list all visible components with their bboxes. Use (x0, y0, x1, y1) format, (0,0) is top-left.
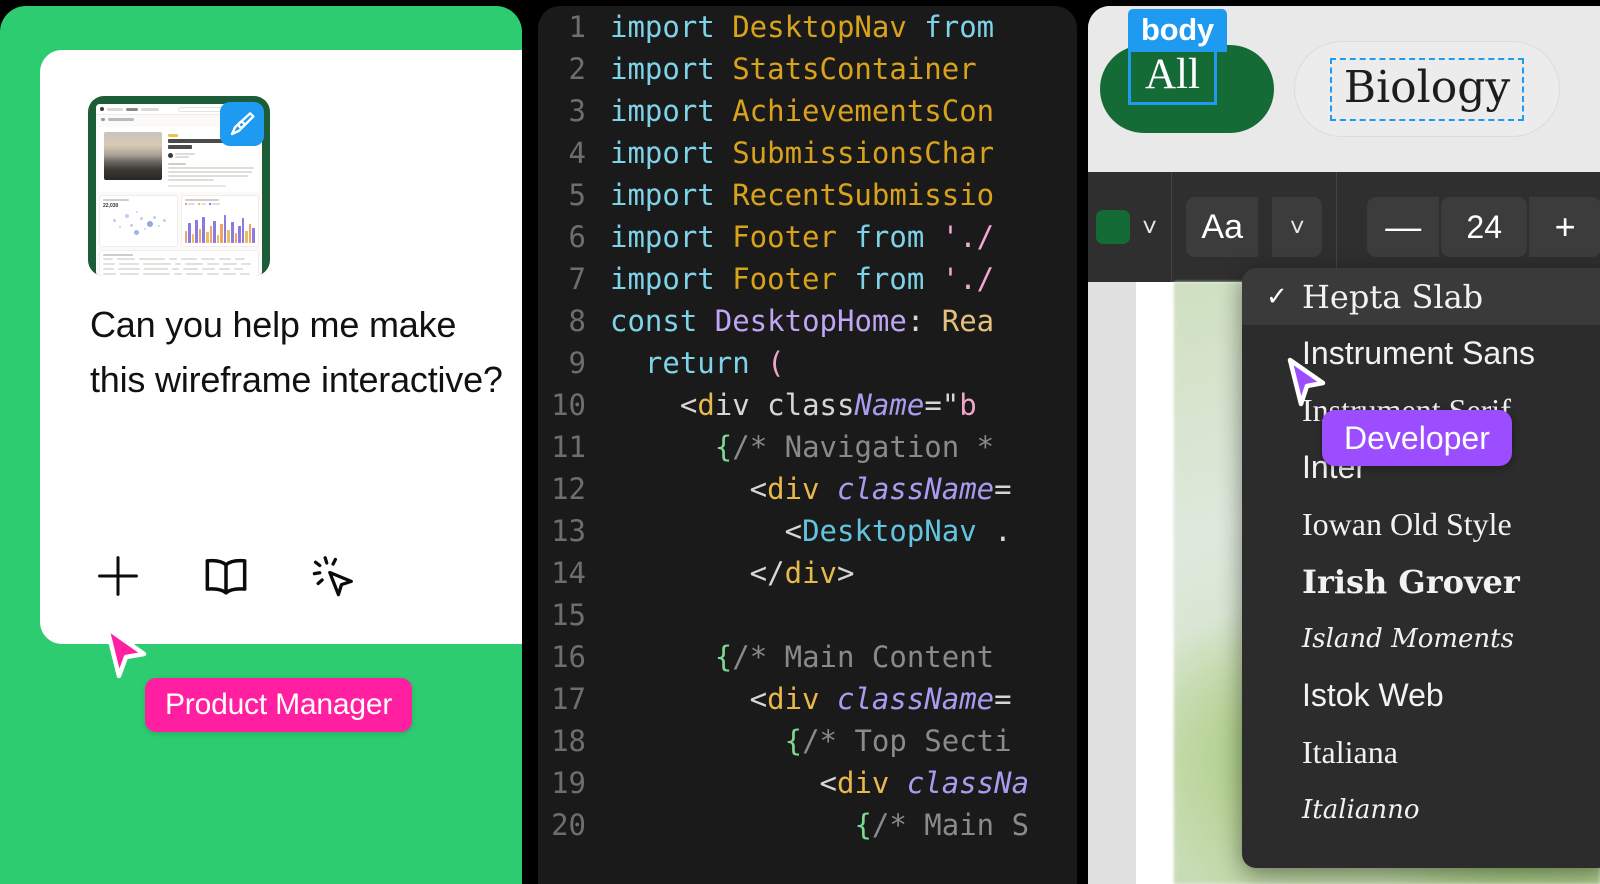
font-menu-item[interactable]: Italianno (1242, 781, 1600, 838)
thumb-card-breakdown (181, 195, 260, 247)
code-text: import RecentSubmissio (610, 178, 994, 212)
code-text: </div> (610, 556, 854, 590)
code-line[interactable]: 7import Footer from './ (538, 258, 1077, 300)
font-menu-item-label: Italiana (1302, 734, 1398, 771)
developer-badge: Developer (1322, 410, 1512, 466)
code-text: import AchievementsCon (610, 94, 994, 128)
font-menu-item-label: Hepta Slab (1302, 278, 1483, 316)
code-line[interactable]: 14 </div> (538, 552, 1077, 594)
font-menu-item-label: Iowan Old Style (1302, 506, 1512, 543)
line-number: 11 (538, 430, 610, 464)
code-lines: 1import DesktopNav from2import StatsCont… (538, 6, 1077, 846)
code-line[interactable]: 18 {/* Top Secti (538, 720, 1077, 762)
code-text: import Footer from './ (610, 220, 994, 254)
line-number: 13 (538, 514, 610, 548)
code-editor-panel[interactable]: 1import DesktopNav from2import StatsCont… (538, 6, 1077, 884)
thumb-hero-image (104, 132, 162, 180)
thumb-nav-item (141, 108, 159, 111)
font-size-stepper[interactable]: — 24 + (1367, 197, 1600, 257)
toolbar-case-segment[interactable]: Aa ˅ (1172, 172, 1337, 282)
font-menu-item-label: Instrument Sans (1302, 335, 1535, 372)
line-number: 2 (538, 52, 610, 86)
line-number: 19 (538, 766, 610, 800)
line-number: 18 (538, 724, 610, 758)
screenshot-root: 22,030 (0, 0, 1600, 884)
chevron-down-icon[interactable]: ˅ (1142, 214, 1157, 240)
layer-tag-body: body (1128, 9, 1227, 52)
thumb-logo-dot (100, 107, 104, 111)
code-text: return ( (610, 346, 785, 380)
code-text: <div classNa (610, 766, 1029, 800)
font-menu-item[interactable]: Istok Web (1242, 667, 1600, 724)
wireframe-thumbnail[interactable]: 22,030 (88, 96, 270, 276)
font-menu-item-label: Istok Web (1302, 677, 1444, 714)
code-line[interactable]: 11 {/* Navigation * (538, 426, 1077, 468)
color-swatch[interactable]: body All (1100, 45, 1274, 133)
line-number: 6 (538, 220, 610, 254)
thumb-nav-item (126, 108, 138, 111)
cursor-click-icon[interactable] (306, 548, 362, 604)
product-manager-cursor (100, 624, 152, 684)
code-text: import Footer from './ (610, 262, 994, 296)
prompt-card: 22,030 (40, 50, 522, 644)
font-size-increase-button[interactable]: + (1529, 197, 1600, 257)
toolbar-color-segment[interactable]: ˅ (1088, 172, 1172, 282)
line-number: 4 (538, 136, 610, 170)
code-line[interactable]: 12 <div className= (538, 468, 1077, 510)
thumb-nav-item (107, 108, 123, 111)
line-number: 8 (538, 304, 610, 338)
code-line[interactable]: 16 {/* Main Content (538, 636, 1077, 678)
line-number: 12 (538, 472, 610, 506)
code-line[interactable]: 9 return ( (538, 342, 1077, 384)
font-menu-item[interactable]: Iowan Old Style (1242, 496, 1600, 553)
font-menu-item-label: Irish Grover (1302, 563, 1520, 601)
line-number: 9 (538, 346, 610, 380)
code-text: import SubmissionsChar (610, 136, 994, 170)
code-text: {/* Top Secti (610, 724, 1012, 758)
code-text: import StatsContainer (610, 52, 977, 86)
check-icon: ✓ (1266, 281, 1302, 312)
code-line[interactable]: 20 {/* Main S (538, 804, 1077, 846)
font-preview-pill[interactable]: Biology (1294, 41, 1560, 137)
code-text: <div className= (610, 682, 1012, 716)
code-line[interactable]: 4import SubmissionsChar (538, 132, 1077, 174)
prompt-text: Can you help me make this wireframe inte… (90, 298, 520, 407)
pen-tool-icon (220, 102, 264, 146)
action-icon-row (90, 536, 510, 616)
code-text: {/* Navigation * (610, 430, 994, 464)
code-line[interactable]: 5import RecentSubmissio (538, 174, 1077, 216)
font-picker-header: body All Biology (1088, 6, 1600, 172)
line-number: 15 (538, 598, 610, 632)
font-menu-item[interactable]: ✓Hepta Slab (1242, 268, 1600, 325)
code-line[interactable]: 2import StatsContainer (538, 48, 1077, 90)
product-manager-badge: Product Manager (145, 678, 412, 732)
code-text: <div className="b (610, 388, 977, 422)
developer-cursor (1284, 356, 1330, 412)
code-line[interactable]: 17 <div className= (538, 678, 1077, 720)
line-number: 1 (538, 10, 610, 44)
code-line[interactable]: 13 <DesktopNav . (538, 510, 1077, 552)
code-text: <div className= (610, 472, 1012, 506)
text-case-button[interactable]: Aa (1186, 197, 1258, 257)
book-icon[interactable] (198, 548, 254, 604)
thumb-card-samples: 22,030 (99, 195, 178, 247)
font-menu-item[interactable]: Island Moments (1242, 610, 1600, 667)
font-toolbar: ˅ Aa ˅ — 24 + (1088, 172, 1600, 282)
line-number: 14 (538, 556, 610, 590)
layer-tag-all: All (1128, 47, 1217, 105)
line-number: 5 (538, 178, 610, 212)
toolbar-size-segment[interactable]: — 24 + (1337, 172, 1600, 282)
line-number: 10 (538, 388, 610, 422)
prompt-panel: 22,030 (0, 6, 522, 884)
code-text: <DesktopNav . (610, 514, 1012, 548)
toolbar-color-swatch[interactable] (1096, 210, 1130, 244)
font-size-decrease-button[interactable]: — (1367, 197, 1439, 257)
line-number: 17 (538, 682, 610, 716)
code-line[interactable]: 6import Footer from './ (538, 216, 1077, 258)
code-text: const DesktopHome: Rea (610, 304, 994, 338)
case-chevron-down-icon[interactable]: ˅ (1272, 197, 1322, 257)
code-line[interactable]: 3import AchievementsCon (538, 90, 1077, 132)
code-line[interactable]: 1import DesktopNav from (538, 6, 1077, 48)
code-text: {/* Main S (610, 808, 1029, 842)
font-size-value[interactable]: 24 (1441, 197, 1527, 257)
line-number: 3 (538, 94, 610, 128)
plus-icon[interactable] (90, 548, 146, 604)
code-line[interactable]: 10 <div className="b (538, 384, 1077, 426)
font-menu-item-label: Island Moments (1302, 624, 1514, 654)
thumb-stat-cards: 22,030 (99, 195, 259, 247)
font-preview-text: Biology (1330, 58, 1524, 121)
canvas-margin (1136, 282, 1174, 884)
developer-label: Developer (1344, 420, 1490, 457)
thumb-recent-table (99, 250, 259, 276)
font-menu-item-label: Italianno (1302, 795, 1420, 825)
product-manager-label: Product Manager (165, 688, 392, 722)
font-menu-item[interactable]: Irish Grover (1242, 553, 1600, 610)
code-line[interactable]: 19 <div classNa (538, 762, 1077, 804)
code-text: {/* Main Content (610, 640, 994, 674)
code-line[interactable]: 8const DesktopHome: Rea (538, 300, 1077, 342)
line-number: 7 (538, 262, 610, 296)
line-number: 16 (538, 640, 610, 674)
font-menu-item[interactable]: Italiana (1242, 724, 1600, 781)
line-number: 20 (538, 808, 610, 842)
code-line[interactable]: 15 (538, 594, 1077, 636)
canvas-gutter (1088, 282, 1136, 884)
code-text: import DesktopNav from (610, 10, 994, 44)
